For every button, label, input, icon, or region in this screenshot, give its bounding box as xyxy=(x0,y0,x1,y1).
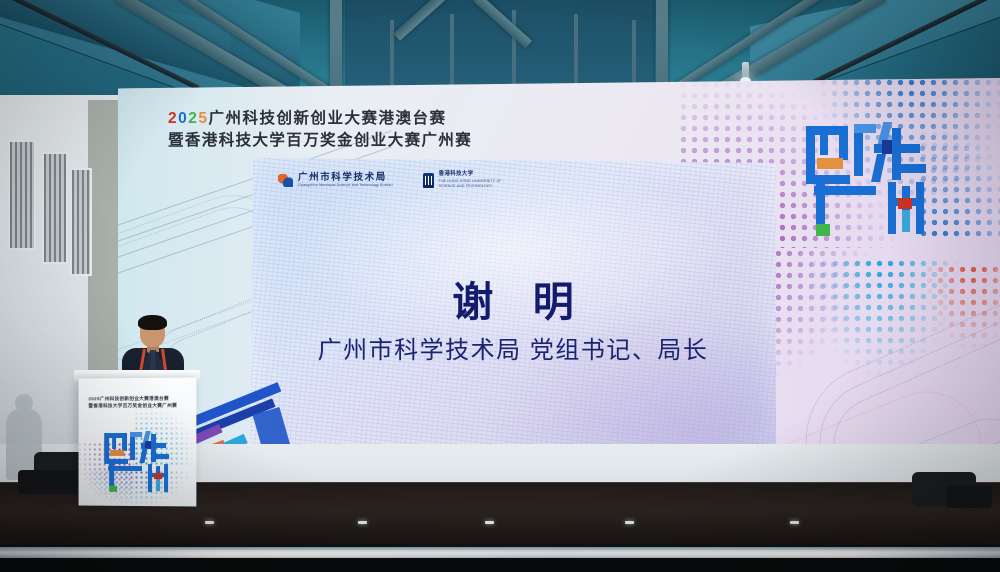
podium-headline: 2025广州科技创新创业大赛港澳台赛 暨香港科技大学百万奖金创业大赛广州赛 xyxy=(88,396,188,410)
headline-year-d3: 2 xyxy=(188,110,198,127)
logo-guangzhou-sti-bureau: 广州市科学技术局 Guangzhou Municipal Science and… xyxy=(278,173,393,188)
backdrop-headline-line2: 暨香港科技大学百万奖金创业大赛广州赛 xyxy=(168,130,472,152)
backdrop-headline-line1: 广州科技创新创业大赛港澳台赛 xyxy=(209,110,447,127)
sponsor-logo-row: 广州市科学技术局 Guangzhou Municipal Science and… xyxy=(278,172,502,188)
stage-light-equipment xyxy=(946,486,992,508)
podium-headline-line2: 暨香港科技大学百万奖金创业大赛广州赛 xyxy=(88,402,188,409)
wall-vent xyxy=(8,140,36,250)
speaker-name: 谢 明 xyxy=(250,268,776,328)
headline-year-d2: 0 xyxy=(178,110,188,127)
gz-bureau-name-en: Guangzhou Municipal Science and Technolo… xyxy=(298,183,393,187)
led-presentation-screen: 广州市科学技术局 Guangzhou Municipal Science and… xyxy=(250,158,776,463)
wall-vent xyxy=(70,168,92,276)
hkust-shield-icon xyxy=(423,173,434,188)
headline-year-d1: 2 xyxy=(168,110,178,127)
gz-bureau-mark-icon xyxy=(278,174,293,187)
backdrop-headline: 2025广州科技创新创业大赛港澳台赛 暨香港科技大学百万奖金创业大赛广州赛 xyxy=(168,108,472,152)
podium: 2025广州科技创新创业大赛港澳台赛 暨香港科技大学百万奖金创业大赛广州赛 xyxy=(79,378,197,507)
stage-spotlight-icon xyxy=(742,62,749,80)
hkust-name-en-2: SCIENCE AND TECHNOLOGY xyxy=(439,184,502,188)
headline-year-d4: 5 xyxy=(198,110,208,127)
logo-hkust: 香港科技大学 THE HONG KONG UNIVERSITY OF SCIEN… xyxy=(423,172,502,188)
chuang-zai-guangzhou-logo xyxy=(802,120,932,235)
floor-front xyxy=(0,558,1000,572)
stage-scene: 2025广州科技创新创业大赛港澳台赛 暨香港科技大学百万奖金创业大赛广州赛 xyxy=(0,0,1000,572)
stage-edge-light xyxy=(0,550,1000,558)
gz-bureau-name-cn: 广州市科学技术局 xyxy=(298,173,393,183)
stage-light-equipment xyxy=(18,470,80,494)
hkust-name-cn: 香港科技大学 xyxy=(439,172,502,178)
hkust-name-en-1: THE HONG KONG UNIVERSITY OF xyxy=(439,179,502,183)
podium-logo xyxy=(102,430,172,492)
speaker-title: 广州市科学技术局 党组书记、局长 xyxy=(250,330,776,365)
wall-vent xyxy=(42,152,68,264)
